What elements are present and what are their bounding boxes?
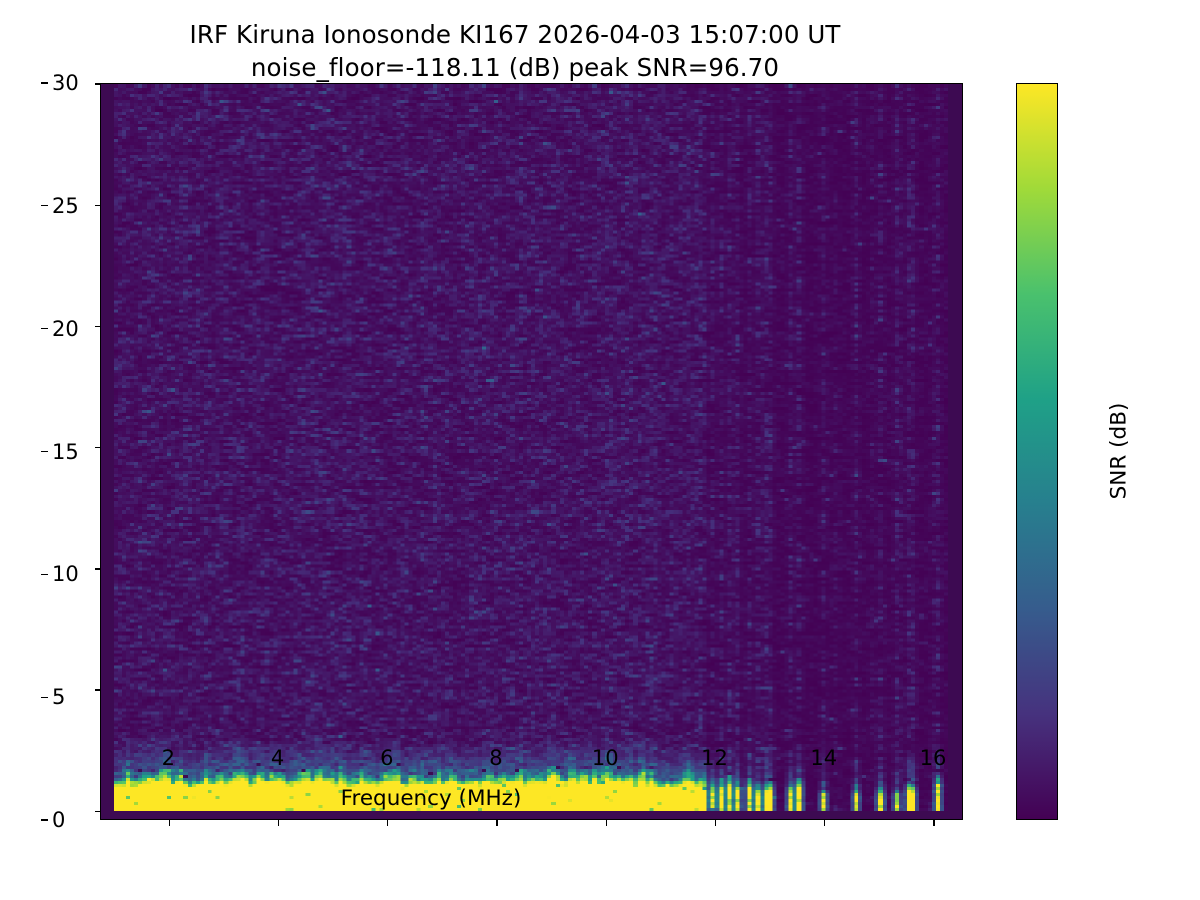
- colorbar-tick-mark: [41, 574, 48, 575]
- y-tick-mark: [95, 811, 102, 812]
- x-tick-mark: [933, 819, 934, 826]
- x-tick-label: 4: [271, 746, 284, 770]
- ionogram-figure: IRF Kiruna Ionosonde KI167 2026-04-03 15…: [0, 0, 1200, 900]
- title-line-1: IRF Kiruna Ionosonde KI167 2026-04-03 15…: [190, 20, 841, 49]
- x-tick-label: 6: [380, 746, 393, 770]
- ionogram-heatmap: [101, 84, 962, 819]
- x-tick-label: 8: [489, 746, 502, 770]
- colorbar-gradient: [1017, 84, 1057, 819]
- y-tick-mark: [95, 205, 102, 206]
- colorbar-tick-label: 10: [52, 562, 79, 586]
- chart-title: IRF Kiruna Ionosonde KI167 2026-04-03 15…: [0, 18, 1030, 84]
- colorbar-tick-mark: [41, 328, 48, 329]
- x-tick-mark: [824, 819, 825, 826]
- title-line-2: noise_floor=-118.11 (dB) peak SNR=96.70: [0, 51, 1030, 84]
- colorbar-tick-mark: [41, 451, 48, 452]
- x-tick-label: 14: [810, 746, 837, 770]
- x-tick-mark: [169, 819, 170, 826]
- x-tick-mark: [715, 819, 716, 826]
- x-tick-mark: [496, 819, 497, 826]
- colorbar-tick-mark: [41, 82, 48, 83]
- x-tick-mark: [387, 819, 388, 826]
- plot-axes: [100, 83, 963, 820]
- colorbar: [1016, 83, 1058, 820]
- x-tick-label: 12: [701, 746, 728, 770]
- colorbar-tick-label: 30: [52, 71, 79, 95]
- y-tick-mark: [95, 568, 102, 569]
- x-tick-label: 16: [920, 746, 947, 770]
- x-tick-mark: [606, 819, 607, 826]
- y-tick-mark: [95, 689, 102, 690]
- colorbar-tick-mark: [41, 819, 48, 820]
- colorbar-tick-label: 25: [52, 194, 79, 218]
- colorbar-tick-label: 5: [52, 685, 65, 709]
- colorbar-label: SNR (dB): [1107, 403, 1132, 500]
- x-tick-mark: [278, 819, 279, 826]
- x-tick-label: 10: [592, 746, 619, 770]
- y-tick-mark: [95, 83, 102, 84]
- colorbar-tick-label: 0: [52, 808, 65, 832]
- colorbar-tick-mark: [41, 697, 48, 698]
- colorbar-tick-label: 20: [52, 317, 79, 341]
- x-axis-label: Frequency (MHz): [341, 786, 522, 811]
- y-tick-mark: [95, 326, 102, 327]
- y-tick-mark: [95, 447, 102, 448]
- colorbar-tick-label: 15: [52, 440, 79, 464]
- colorbar-tick-mark: [41, 205, 48, 206]
- x-tick-label: 2: [162, 746, 175, 770]
